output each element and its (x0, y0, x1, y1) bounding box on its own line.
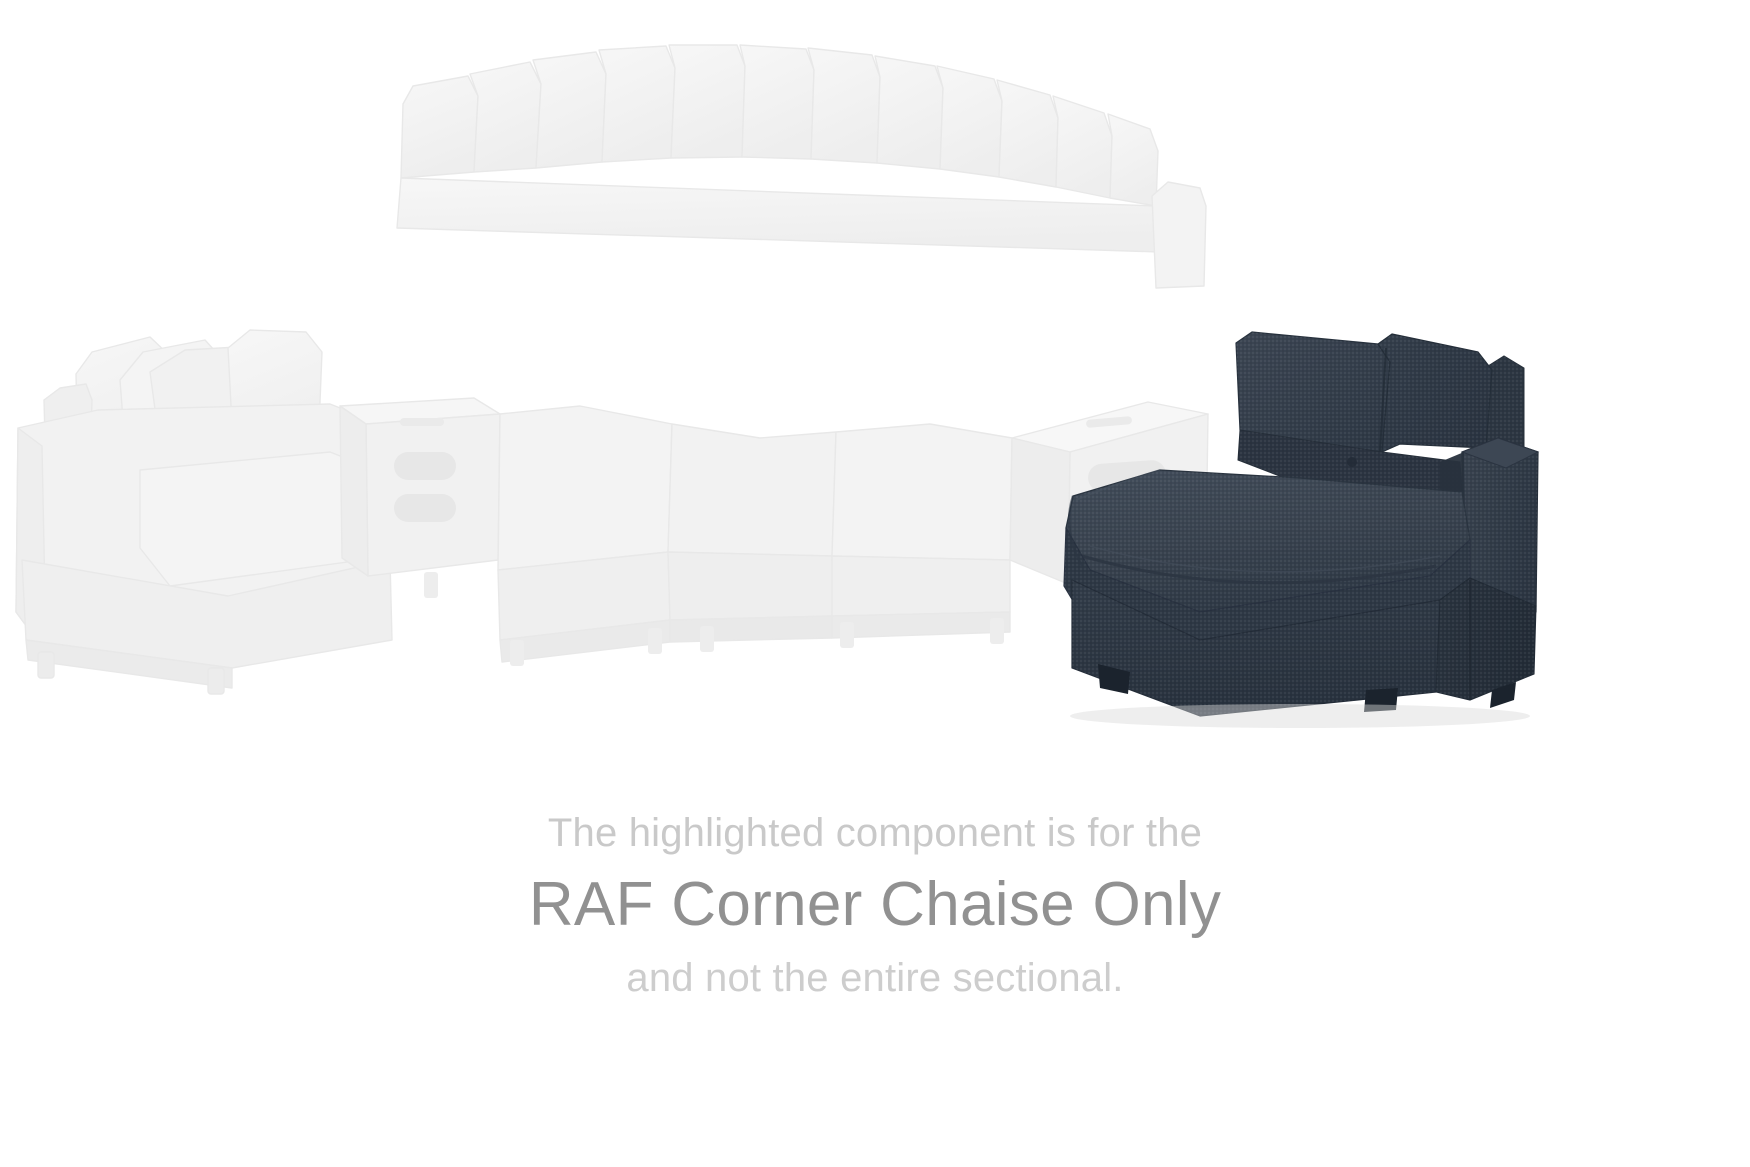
sectional-illustration (0, 0, 1750, 800)
chaise-tuft-button (1347, 457, 1357, 467)
caption-trailing-text: and not the entire sectional. (0, 955, 1750, 1002)
ghost-corner-module (668, 424, 836, 642)
ghosted-sectional-group (16, 45, 1208, 694)
caption-headline-text: RAF Corner Chaise Only (0, 871, 1750, 939)
ghost-right-back-piece (1152, 182, 1206, 288)
ghost-console-left (340, 398, 500, 576)
ghost-laf-loveseat (16, 330, 396, 694)
product-figure (0, 0, 1750, 800)
ghost-back-frame (397, 178, 1160, 252)
chaise-back-cushion-right-texture (1378, 334, 1492, 452)
caption-lead-text: The highlighted component is for the (0, 810, 1750, 857)
chaise-ground-shadow (1070, 704, 1530, 728)
ghost-armless-seats-left-run (498, 406, 672, 662)
ghost-armless-seats-right-run (832, 424, 1012, 638)
highlighted-raf-corner-chaise (1064, 332, 1538, 728)
caption-block: The highlighted component is for the RAF… (0, 810, 1750, 1003)
